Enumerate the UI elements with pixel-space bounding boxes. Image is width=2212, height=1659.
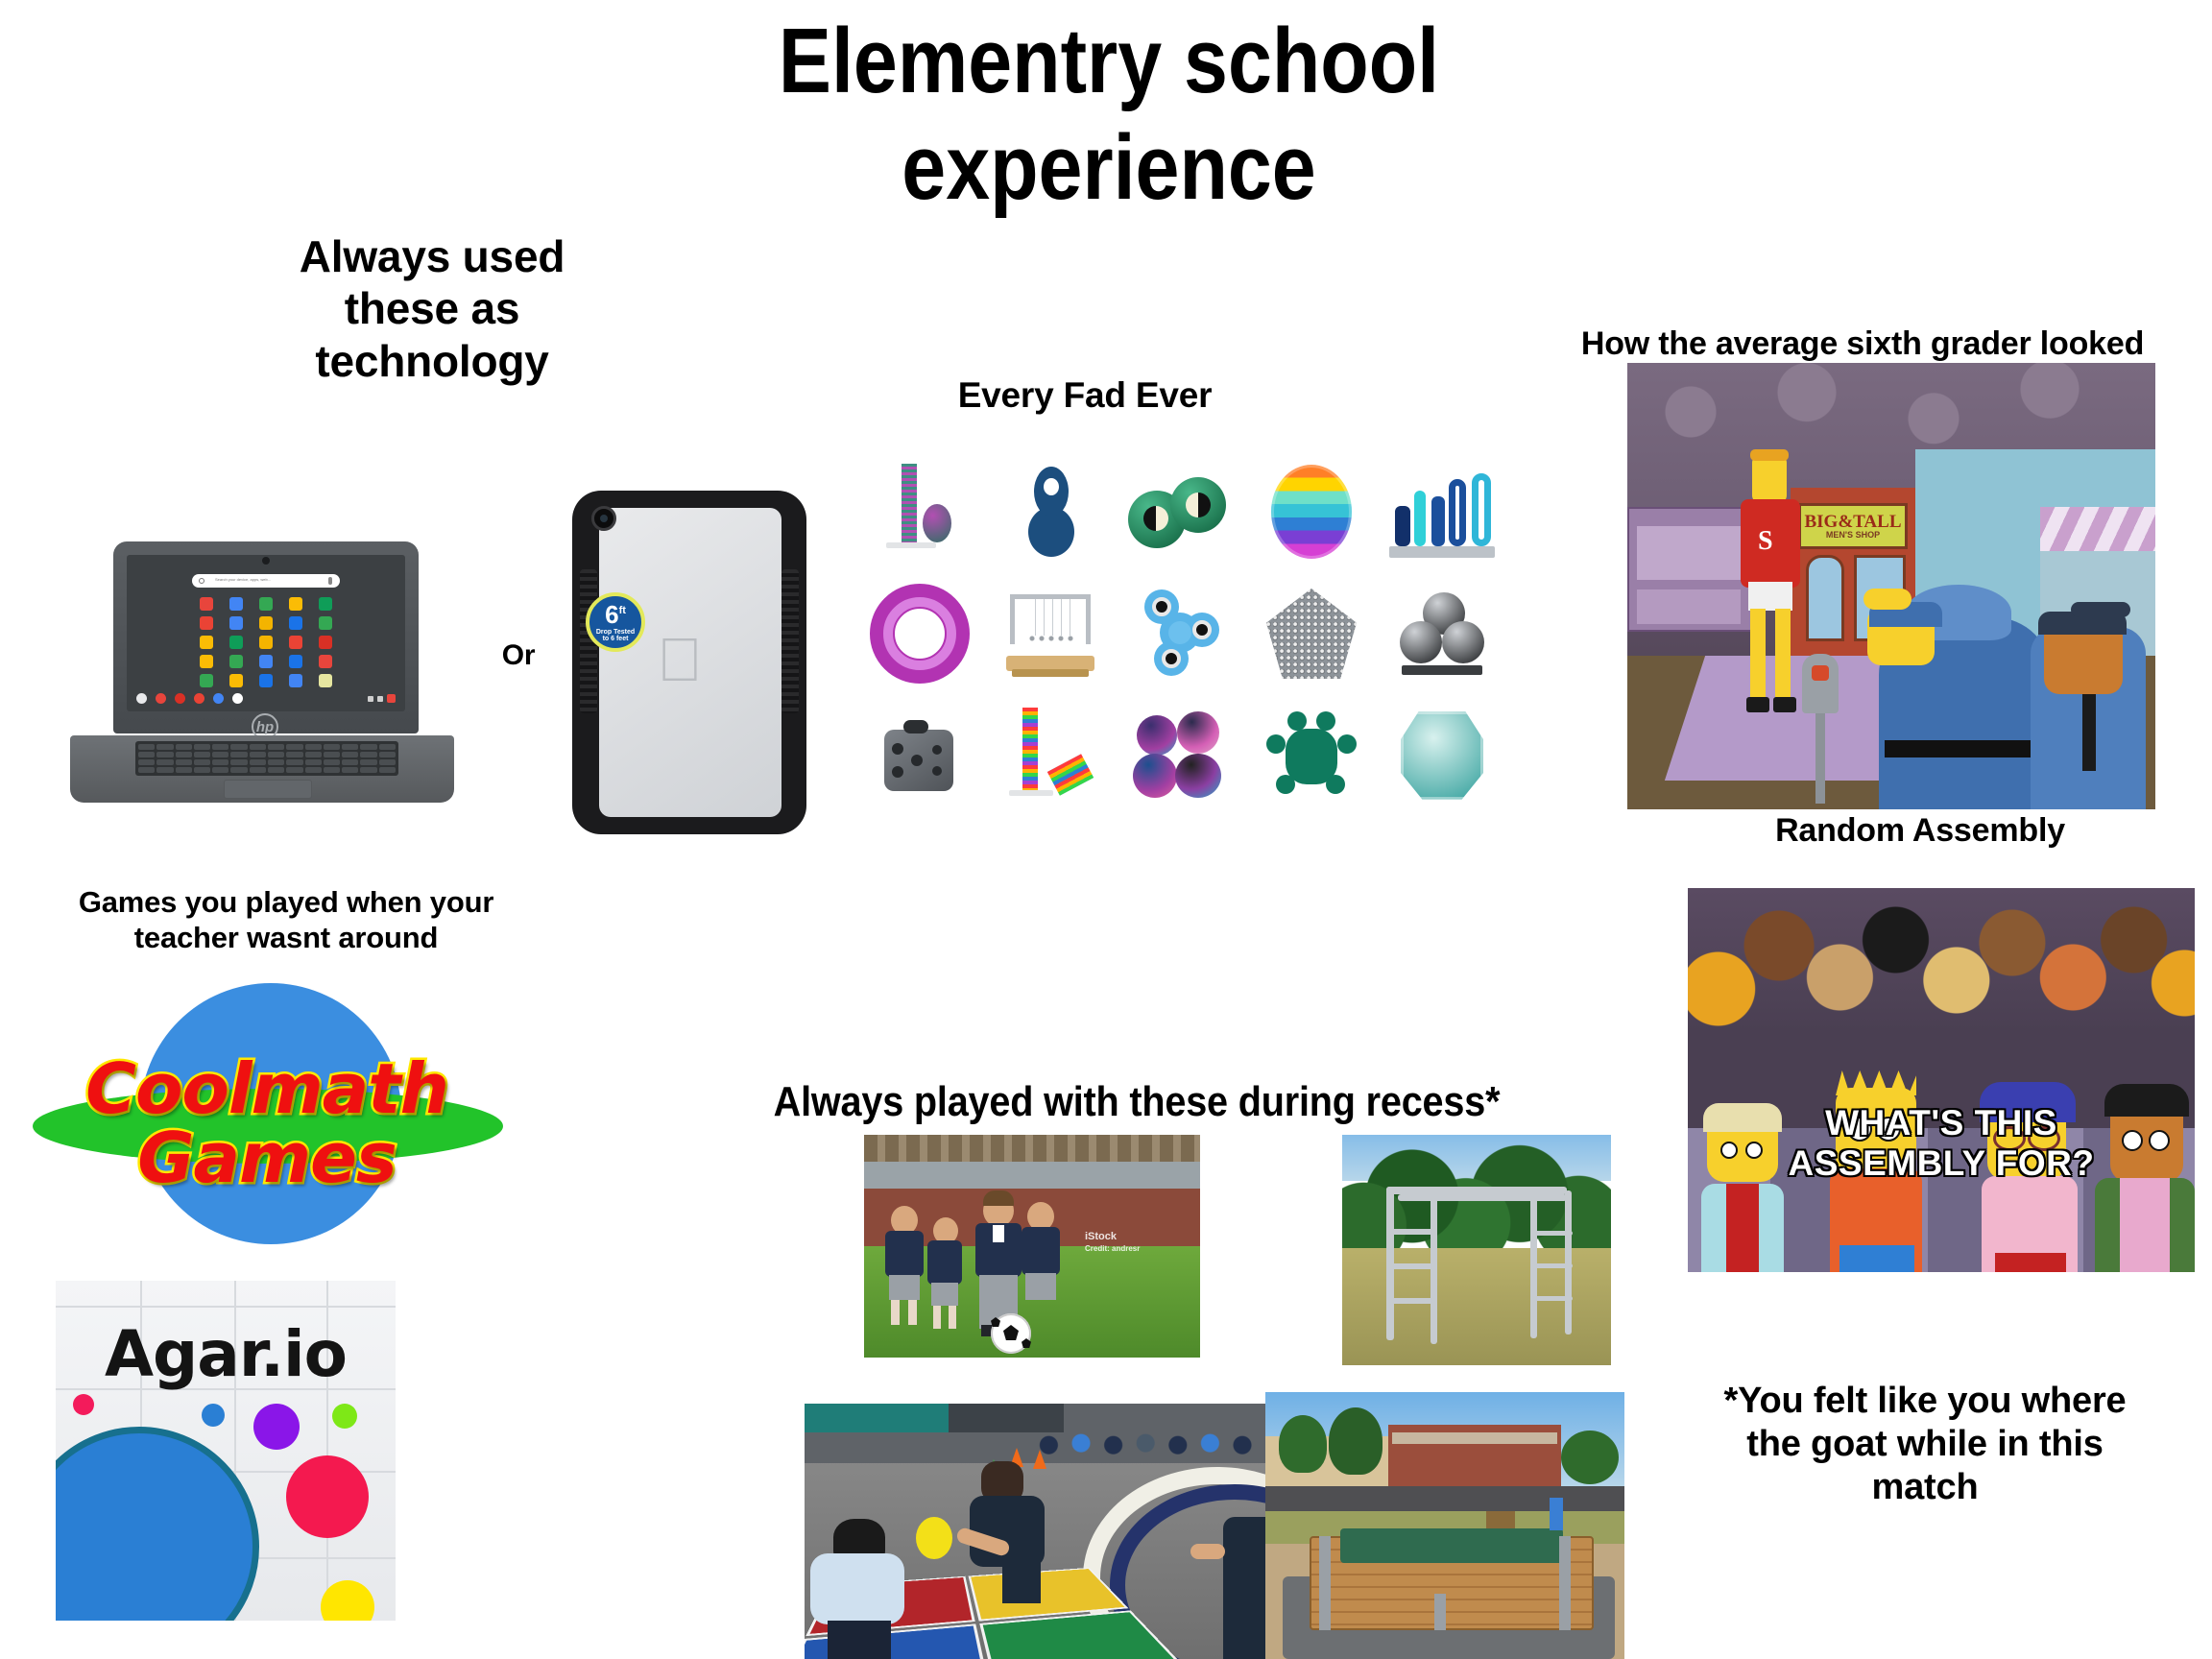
secret-games-caption: Games you played when your teacher wasnt… <box>27 885 545 955</box>
assembly-meme-line-2: ASSEMBLY FOR? <box>1688 1145 2195 1182</box>
chromeos-shelf-icon[interactable] <box>194 693 204 704</box>
keyboard-key[interactable] <box>138 744 155 750</box>
fidget-shashibo-cube <box>1377 694 1507 816</box>
keyboard-key[interactable] <box>268 752 284 757</box>
recess-photo-soccer: iStock Credit: andresr <box>864 1135 1200 1358</box>
keyboard-key[interactable] <box>230 767 247 773</box>
chromeos-app-icon[interactable] <box>229 655 243 668</box>
chromeos-app-icon[interactable] <box>229 636 243 649</box>
keyboard-key[interactable] <box>342 744 358 750</box>
wifi-icon <box>368 696 373 702</box>
keyboard-key[interactable] <box>212 767 228 773</box>
keyboard-key[interactable] <box>286 767 302 773</box>
keyboard-key[interactable] <box>268 759 284 765</box>
fidget-blue-sticks-set <box>1377 451 1507 573</box>
tall-teen-head <box>1752 455 1787 503</box>
fidget-baoding-yinyang-balls <box>1116 451 1246 573</box>
fidget-iridescent-magnet-balls <box>1116 694 1246 816</box>
fidget-black-metal-spheres <box>1377 573 1507 695</box>
case-grip-right <box>781 569 799 713</box>
shop-sign-line-1: BIG&TALL <box>1804 514 1901 531</box>
chromeos-shelf-icon[interactable] <box>156 693 166 704</box>
keyboard-key[interactable] <box>324 744 340 750</box>
chromeos-shelf[interactable] <box>136 693 243 704</box>
fidget-cube <box>854 694 985 816</box>
agario-title: Agar.io <box>56 1317 396 1391</box>
laptop-screen: Search your device, apps, web... <box>127 555 405 711</box>
chromeos-app-icon[interactable] <box>319 674 332 687</box>
keyboard-key[interactable] <box>176 744 192 750</box>
title-line-2: experience <box>601 114 1617 221</box>
footnote-line-2: the goat while in this <box>1671 1423 2179 1466</box>
keyboard-key[interactable] <box>324 759 340 765</box>
keyboard-key[interactable] <box>324 752 340 757</box>
laptop-keyboard[interactable] <box>135 741 398 776</box>
keyboard-key[interactable] <box>194 752 210 757</box>
fidget-purple-magnetic-rings <box>854 573 985 695</box>
chromeos-search-bar[interactable]: Search your device, apps, web... <box>192 574 340 588</box>
chromeos-app-icon[interactable] <box>200 636 213 649</box>
chromeos-app-icon[interactable] <box>229 674 243 687</box>
keyboard-key[interactable] <box>138 752 155 757</box>
coolmath-text-line-2: Games <box>27 1118 507 1198</box>
keyboard-key[interactable] <box>342 767 358 773</box>
keyboard-key[interactable] <box>156 744 173 750</box>
chromeos-app-icon[interactable] <box>319 616 332 630</box>
keyboard-key[interactable] <box>194 767 210 773</box>
chromeos-app-icon[interactable] <box>200 655 213 668</box>
chromeos-app-icon[interactable] <box>289 655 302 668</box>
fidget-newtons-cradle <box>985 573 1116 695</box>
apple-logo-icon:  <box>657 629 703 690</box>
sixth-grader-caption: How the average sixth grader looked <box>1527 325 2199 363</box>
chromeos-app-icon[interactable] <box>259 616 273 630</box>
keyboard-key[interactable] <box>250 767 266 773</box>
laptop-base <box>70 735 454 803</box>
keyboard-key[interactable] <box>379 767 396 773</box>
keyboard-key[interactable] <box>176 752 192 757</box>
chromeos-status-tray[interactable] <box>368 694 396 703</box>
sweater-letter: S <box>1758 526 1773 557</box>
chromebook-image: Search your device, apps, web... hp <box>53 518 466 816</box>
camera-icon <box>591 506 616 531</box>
chromeos-app-icon[interactable] <box>319 597 332 611</box>
chromeos-app-icon[interactable] <box>229 597 243 611</box>
fidget-magnetic-ball-pentagon <box>1246 573 1377 695</box>
badge-number: 6 <box>605 602 618 627</box>
keyboard-key[interactable] <box>138 767 155 773</box>
recess-photo-monkey-bars <box>1342 1135 1611 1365</box>
chromeos-app-icon[interactable] <box>259 655 273 668</box>
chromeos-app-icon[interactable] <box>319 655 332 668</box>
fidget-rainbow-pop-it <box>1246 451 1377 573</box>
page-title: Elementry school experience <box>518 8 1699 222</box>
keyboard-key[interactable] <box>379 759 396 765</box>
recess-photo-four-square <box>805 1404 1265 1659</box>
keyboard-key[interactable] <box>360 767 376 773</box>
chromeos-app-icon[interactable] <box>289 636 302 649</box>
recess-footnote: *You felt like you where the goat while … <box>1671 1380 2179 1508</box>
recess-caption: Always played with these during recess* <box>739 1077 1534 1127</box>
footnote-line-1: *You felt like you where <box>1671 1380 2179 1423</box>
keyboard-key[interactable] <box>324 767 340 773</box>
keyboard-key[interactable] <box>342 752 358 757</box>
ipad-image: 6 ft Drop Tested to 6 feet  <box>565 485 814 840</box>
keyboard-key[interactable] <box>212 744 228 750</box>
chromeos-app-icon[interactable] <box>200 597 213 611</box>
webcam-icon <box>262 557 270 565</box>
chromeos-shelf-icon[interactable] <box>175 693 185 704</box>
keyboard-key[interactable] <box>360 744 376 750</box>
secret-games-caption-line-2: teacher wasnt around <box>27 921 545 956</box>
simpsons-big-and-tall-image: BIG&TALL MEN'S SHOP S <box>1627 363 2155 809</box>
keyboard-key[interactable] <box>230 744 247 750</box>
technology-caption: Always used these as technology <box>240 230 624 387</box>
keyboard-key[interactable] <box>194 744 210 750</box>
watermark-line-2: Credit: andresr <box>1085 1244 1140 1254</box>
battery-icon <box>377 696 383 702</box>
keyboard-key[interactable] <box>156 767 173 773</box>
fidget-rainbow-bead-tower <box>985 694 1116 816</box>
keyboard-key[interactable] <box>230 752 247 757</box>
soccer-kid-4 <box>1018 1202 1064 1327</box>
keyboard-key[interactable] <box>250 744 266 750</box>
technology-caption-line-1: Always used <box>240 230 624 282</box>
monkey-bar-post-right <box>1565 1190 1572 1334</box>
keyboard-key[interactable] <box>379 744 396 750</box>
agario-dot-yellow <box>321 1580 374 1621</box>
agario-dot-red <box>286 1455 369 1538</box>
coolmath-games-logo: Coolmath Games <box>27 972 507 1260</box>
footnote-line-3: match <box>1671 1466 2179 1509</box>
shop-sign-line-2: MEN'S SHOP <box>1826 531 1880 540</box>
keyboard-key[interactable] <box>268 767 284 773</box>
keyboard-key[interactable] <box>250 759 266 765</box>
chromeos-app-icon[interactable] <box>289 674 302 687</box>
monkey-bar-top-rail <box>1386 1187 1567 1194</box>
soccer-ball <box>991 1313 1031 1354</box>
four-square-kid-front <box>805 1519 910 1659</box>
keyboard-key[interactable] <box>176 759 192 765</box>
agario-player-cell <box>56 1427 259 1621</box>
chromeos-app-icon[interactable] <box>229 616 243 630</box>
laptop-trackpad[interactable] <box>224 780 312 799</box>
chromeos-app-icon[interactable] <box>289 616 302 630</box>
keyboard-key[interactable] <box>305 759 322 765</box>
agario-dot-blue <box>202 1404 225 1427</box>
fads-caption: Every Fad Ever <box>869 374 1301 417</box>
technology-caption-line-2: these as <box>240 282 624 334</box>
keyboard-key[interactable] <box>286 744 302 750</box>
keyboard-key[interactable] <box>305 752 322 757</box>
keyboard-key[interactable] <box>268 744 284 750</box>
keyboard-key[interactable] <box>360 759 376 765</box>
keyboard-key[interactable] <box>286 752 302 757</box>
istock-watermark: iStock Credit: andresr <box>1085 1231 1140 1254</box>
grid-line-h1 <box>56 1306 396 1308</box>
keyboard-key[interactable] <box>212 752 228 757</box>
chromeos-app-icon[interactable] <box>259 636 273 649</box>
search-placeholder-text: Search your device, apps, web... <box>215 577 323 582</box>
keyboard-key[interactable] <box>250 752 266 757</box>
keyboard-key[interactable] <box>156 759 173 765</box>
secret-games-caption-line-1: Games you played when your <box>27 885 545 921</box>
assembly-meme-line-1: WHAT'S THIS <box>1688 1105 2195 1142</box>
chromeos-app-icon[interactable] <box>319 636 332 649</box>
chromeos-shelf-icon[interactable] <box>213 693 224 704</box>
meme-canvas: Elementry school experience Always used … <box>0 0 2212 1659</box>
recess-photo-gaga-pit <box>1265 1392 1624 1659</box>
agario-app-icon: Agar.io <box>56 1281 396 1621</box>
keyboard-key[interactable] <box>156 752 173 757</box>
keyboard-key[interactable] <box>212 759 228 765</box>
keyboard-key[interactable] <box>286 759 302 765</box>
keyboard-key[interactable] <box>138 759 155 765</box>
account-avatar <box>387 694 396 703</box>
keyboard-key[interactable] <box>360 752 376 757</box>
title-line-1: Elementry school <box>601 8 1617 114</box>
chromeos-app-icon[interactable] <box>259 597 273 611</box>
fidget-toys-grid <box>854 451 1507 816</box>
search-icon <box>199 578 204 584</box>
keyboard-key[interactable] <box>379 752 396 757</box>
chromeos-app-icon[interactable] <box>259 674 273 687</box>
agario-dot-green <box>332 1404 357 1429</box>
badge-unit: ft <box>619 606 626 616</box>
badge-line-2: to 6 feet <box>603 636 629 642</box>
soccer-kid-1 <box>881 1206 927 1331</box>
fidget-green-spiky-ball <box>1246 694 1377 816</box>
chromeos-app-icon[interactable] <box>200 674 213 687</box>
four-square-kid-throwing <box>964 1461 1060 1605</box>
keyboard-key[interactable] <box>194 759 210 765</box>
or-label: Or <box>475 638 562 672</box>
soccer-kid-2 <box>924 1217 966 1333</box>
chromeos-app-grid[interactable] <box>198 597 334 687</box>
keyboard-key[interactable] <box>305 767 322 773</box>
watermark-line-1: iStock <box>1085 1231 1140 1244</box>
fidget-blue-infinity <box>985 451 1116 573</box>
simpsons-assembly-image: WHAT'S THIS ASSEMBLY FOR? <box>1688 888 2195 1272</box>
chromeos-shelf-icon[interactable] <box>136 693 147 704</box>
keyboard-key[interactable] <box>305 744 322 750</box>
keyboard-key[interactable] <box>230 759 247 765</box>
agario-dot-pink <box>73 1394 94 1415</box>
microphone-icon <box>328 577 332 585</box>
technology-caption-line-3: technology <box>240 335 624 387</box>
fidget-spinner <box>1116 573 1246 695</box>
drop-test-badge: 6 ft Drop Tested to 6 feet <box>586 592 645 652</box>
chromeos-shelf-icon[interactable] <box>232 693 243 704</box>
chromeos-app-icon[interactable] <box>200 616 213 630</box>
keyboard-key[interactable] <box>342 759 358 765</box>
chromeos-app-icon[interactable] <box>289 597 302 611</box>
keyboard-key[interactable] <box>176 767 192 773</box>
assembly-caption: Random Assembly <box>1680 811 2160 850</box>
tall-teen-sweater: S <box>1741 499 1800 588</box>
yellow-playground-ball <box>916 1517 952 1559</box>
agario-dot-purple <box>253 1404 300 1450</box>
fidget-magnetic-bead-tower <box>854 451 985 573</box>
badge-line-1: Drop Tested <box>596 629 635 636</box>
